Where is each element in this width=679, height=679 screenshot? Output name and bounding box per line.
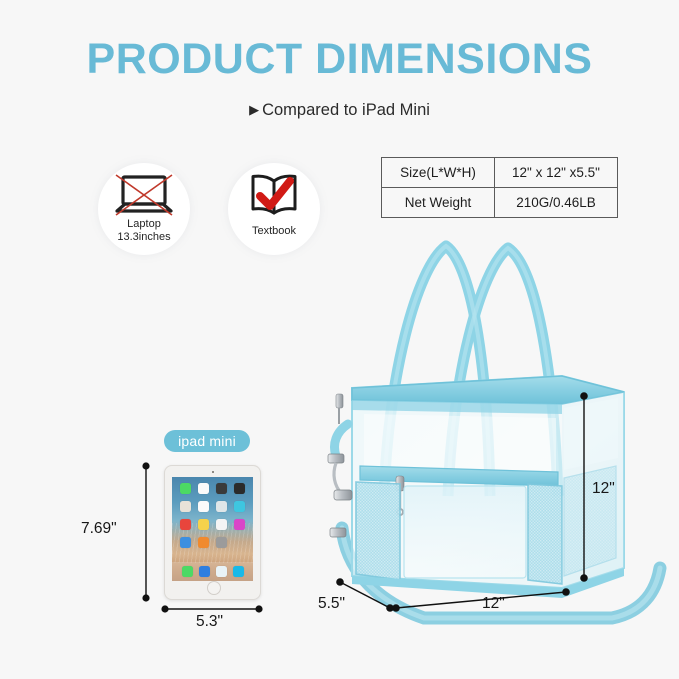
capacity-icon-textbook: Textbook	[228, 163, 320, 255]
app-icon	[234, 483, 245, 494]
app-icon	[216, 483, 227, 494]
table-row: Net Weight 210G/0.46LB	[382, 188, 618, 218]
dimension-line-ipad-height	[142, 462, 149, 601]
app-icon	[233, 566, 244, 577]
open-book-check-icon	[228, 172, 320, 220]
app-icon	[198, 501, 209, 512]
ipad-mini-badge: ipad mini	[164, 430, 250, 452]
app-icon-grid	[177, 483, 248, 554]
capacity-label-laptop: Laptop 13.3inches	[98, 218, 190, 243]
app-icon	[180, 537, 191, 548]
app-icon	[180, 519, 191, 530]
app-icon	[234, 501, 245, 512]
spec-value-weight: 210G/0.46LB	[495, 188, 618, 218]
app-icon	[180, 501, 191, 512]
capacity-icon-laptop: Laptop 13.3inches	[98, 163, 190, 255]
capacity-label-laptop-line1: Laptop	[98, 218, 190, 231]
app-icon	[216, 519, 227, 530]
app-icon	[198, 537, 209, 548]
dimension-label-ipad-width: 5.3"	[196, 613, 223, 631]
dimension-label-bag-width: 12"	[482, 595, 505, 613]
page-subtitle: ▶Compared to iPad Mini	[0, 101, 679, 120]
app-icon	[216, 501, 227, 512]
dimension-line-ipad-width	[161, 605, 262, 612]
spec-label-weight: Net Weight	[382, 188, 495, 218]
ipad-dock	[172, 562, 253, 581]
strap-clip-icon	[328, 424, 352, 500]
app-icon	[199, 566, 210, 577]
app-icon	[216, 537, 227, 548]
capacity-label-textbook: Textbook	[228, 225, 320, 238]
app-icon	[180, 483, 191, 494]
app-icon	[198, 483, 209, 494]
capacity-label-textbook-line1: Textbook	[228, 225, 320, 238]
table-row: Size(L*W*H) 12" x 12" x5.5"	[382, 158, 618, 188]
spec-value-size: 12" x 12" x5.5"	[495, 158, 618, 188]
dimension-label-ipad-height: 7.69"	[81, 520, 117, 538]
app-icon	[234, 537, 245, 548]
app-icon	[234, 519, 245, 530]
triangle-marker-icon: ▶	[249, 102, 259, 117]
ipad-mini-device	[164, 465, 261, 600]
capacity-label-laptop-line2: 13.3inches	[98, 231, 190, 244]
spec-table: Size(L*W*H) 12" x 12" x5.5" Net Weight 2…	[381, 157, 618, 218]
zipper-pull-top-icon	[336, 394, 343, 424]
app-icon	[216, 566, 227, 577]
dimension-label-bag-depth: 5.5"	[318, 595, 345, 613]
app-icon	[198, 519, 209, 530]
spec-label-size: Size(L*W*H)	[382, 158, 495, 188]
app-icon	[182, 566, 193, 577]
page-title: PRODUCT DIMENSIONS	[0, 38, 679, 81]
dimension-label-bag-height: 12"	[592, 480, 615, 498]
clear-tote-bag-illustration	[312, 228, 672, 638]
home-button-icon	[207, 581, 221, 595]
product-dimensions-infographic: PRODUCT DIMENSIONS ▶Compared to iPad Min…	[0, 0, 679, 679]
front-camera-icon	[212, 471, 214, 473]
ipad-screen	[172, 477, 253, 581]
page-subtitle-text: Compared to iPad Mini	[262, 101, 430, 119]
laptop-crossed-out-icon	[98, 174, 190, 218]
